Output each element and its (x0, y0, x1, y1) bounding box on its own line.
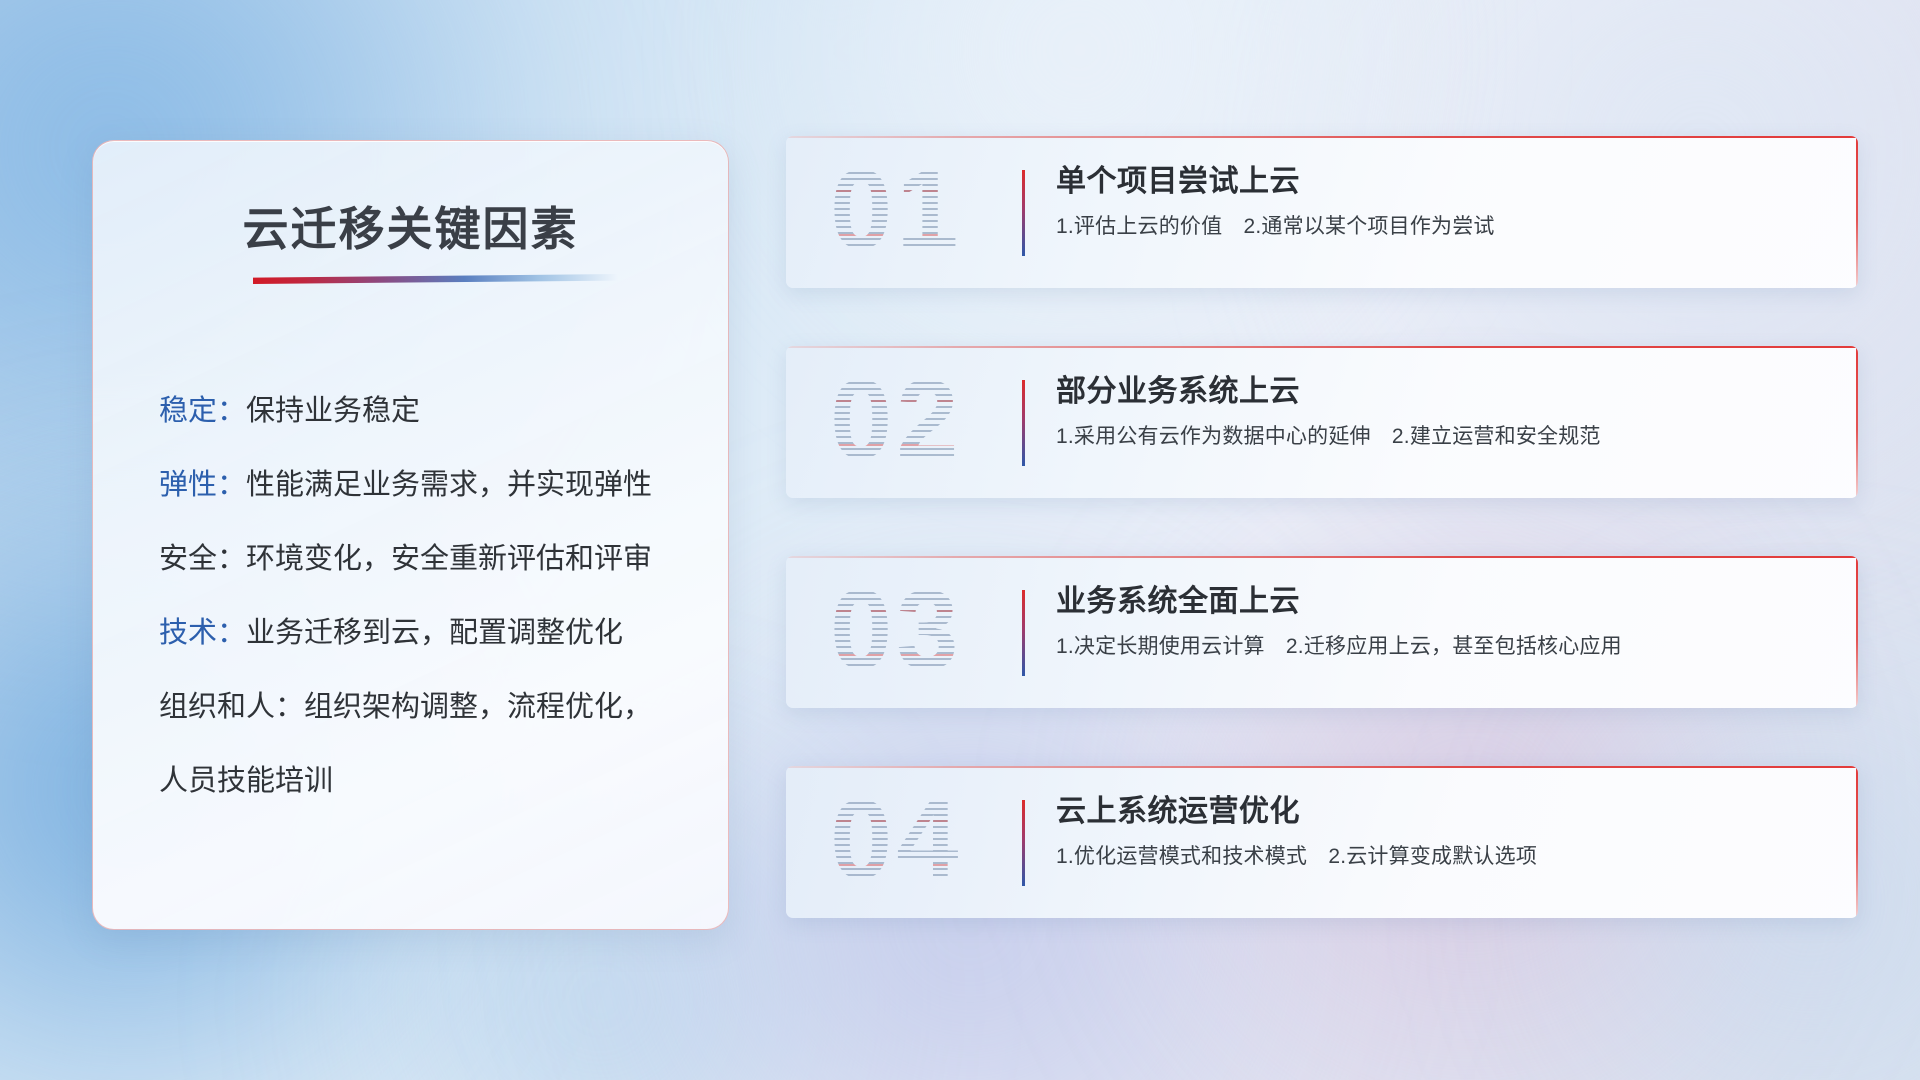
key-factor-label: 组织和人： (159, 683, 304, 725)
stage-subtitle: 1.优化运营模式和技术模式 2.云计算变成默认选项 (1056, 843, 1818, 871)
stage-divider-bar (1022, 800, 1025, 886)
key-factor-text: 组织架构调整，流程优化， (304, 683, 652, 725)
stage-card[interactable]: 0202部分业务系统上云1.采用公有云作为数据中心的延伸 2.建立运营和安全规范 (786, 346, 1858, 498)
key-factor-row: 组织和人：组织架构调整，流程优化， (159, 667, 698, 741)
title-underline-accent (253, 274, 618, 284)
page-title: 云迁移关键因素 (93, 193, 728, 259)
stage-title: 业务系统全面上云 (1056, 582, 1818, 622)
stage-number-watermark-accent: 04 (830, 766, 1010, 918)
stage-card-body: 云上系统运营优化1.优化运营模式和技术模式 2.云计算变成默认选项 (1056, 792, 1818, 871)
key-factor-row: 安全：环境变化，安全重新评估和评审 (159, 519, 698, 593)
stage-card[interactable]: 0303业务系统全面上云1.决定长期使用云计算 2.迁移应用上云，甚至包括核心应… (786, 556, 1858, 708)
key-factor-label: 安全： (159, 535, 246, 577)
key-factor-label: 技术： (159, 609, 246, 651)
key-factor-row: 人员技能培训 (159, 741, 698, 815)
stage-card[interactable]: 0101单个项目尝试上云1.评估上云的价值 2.通常以某个项目作为尝试 (786, 136, 1858, 288)
stage-subtitle: 1.采用公有云作为数据中心的延伸 2.建立运营和安全规范 (1056, 423, 1818, 451)
stage-card-body: 业务系统全面上云1.决定长期使用云计算 2.迁移应用上云，甚至包括核心应用 (1056, 582, 1818, 661)
key-factor-row: 稳定：保持业务稳定 (159, 371, 698, 445)
key-factor-text: 业务迁移到云，配置调整优化 (246, 609, 623, 651)
stage-title: 云上系统运营优化 (1056, 792, 1818, 832)
key-factor-text: 环境变化，安全重新评估和评审 (246, 535, 652, 577)
key-factor-row: 技术：业务迁移到云，配置调整优化 (159, 593, 698, 667)
key-factor-label: 稳定： (159, 387, 246, 429)
stage-divider-bar (1022, 590, 1025, 676)
stage-subtitle: 1.决定长期使用云计算 2.迁移应用上云，甚至包括核心应用 (1056, 633, 1818, 661)
stage-divider-bar (1022, 170, 1025, 256)
stage-card-body: 部分业务系统上云1.采用公有云作为数据中心的延伸 2.建立运营和安全规范 (1056, 372, 1818, 451)
stage-number-watermark-accent: 01 (830, 136, 1010, 288)
stages-card-list: 0101单个项目尝试上云1.评估上云的价值 2.通常以某个项目作为尝试0202部… (786, 136, 1858, 976)
key-factor-text: 保持业务稳定 (246, 387, 420, 429)
key-factors-panel: 云迁移关键因素 稳定：保持业务稳定弹性：性能满足业务需求，并实现弹性安全：环境变… (92, 140, 729, 930)
stage-number-watermark-accent: 02 (830, 346, 1010, 498)
stage-number-watermark-accent: 03 (830, 556, 1010, 708)
stage-title: 单个项目尝试上云 (1056, 162, 1818, 202)
key-factor-text: 人员技能培训 (159, 757, 333, 799)
key-factor-label: 弹性： (159, 461, 246, 503)
key-factor-row: 弹性：性能满足业务需求，并实现弹性 (159, 445, 698, 519)
stage-card[interactable]: 0404云上系统运营优化1.优化运营模式和技术模式 2.云计算变成默认选项 (786, 766, 1858, 918)
stage-title: 部分业务系统上云 (1056, 372, 1818, 412)
key-factor-text: 性能满足业务需求，并实现弹性 (246, 461, 652, 503)
stage-card-body: 单个项目尝试上云1.评估上云的价值 2.通常以某个项目作为尝试 (1056, 162, 1818, 241)
key-factors-list: 稳定：保持业务稳定弹性：性能满足业务需求，并实现弹性安全：环境变化，安全重新评估… (159, 371, 698, 815)
stage-divider-bar (1022, 380, 1025, 466)
stage-subtitle: 1.评估上云的价值 2.通常以某个项目作为尝试 (1056, 213, 1818, 241)
